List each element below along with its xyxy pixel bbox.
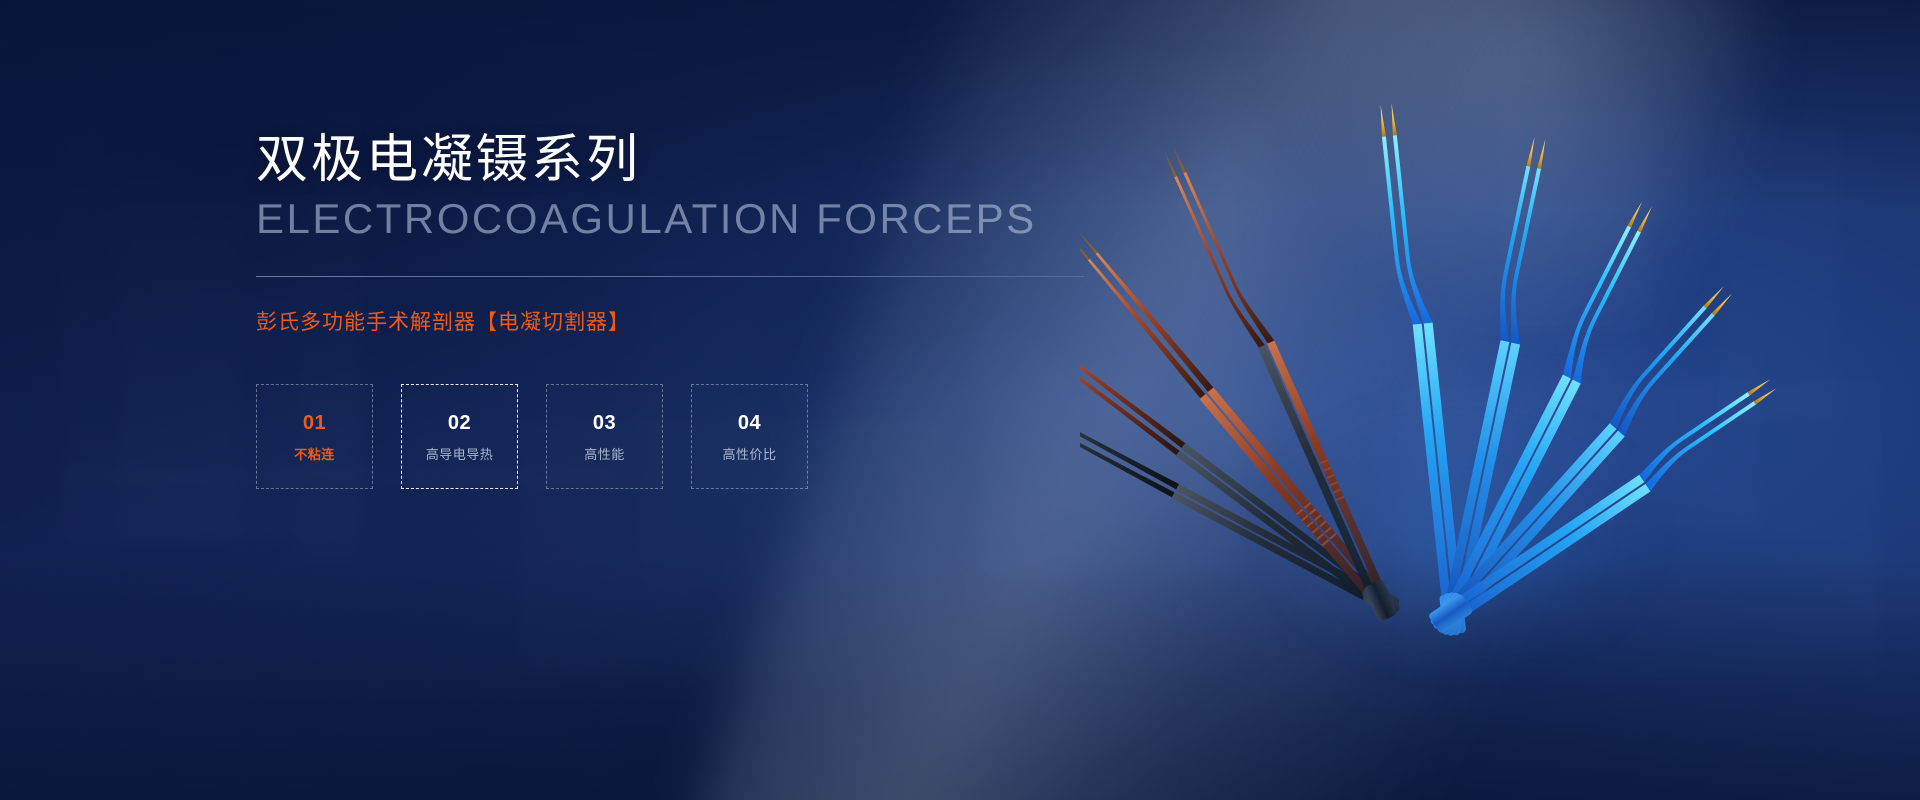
product-glow — [1200, 370, 1720, 700]
title-divider — [256, 276, 1084, 277]
product-name-label: 彭氏多功能手术解剖器【电凝切割器】 — [256, 306, 1096, 336]
product-image — [1080, 40, 1840, 700]
feature-label: 高性价比 — [722, 448, 776, 461]
hero-content: 双极电凝镊系列 ELECTROCOAGULATION FORCEPS 彭氏多功能… — [256, 132, 1096, 489]
feature-card-02[interactable]: 02 高导电导热 — [401, 384, 518, 489]
feature-number: 01 — [303, 413, 326, 433]
feature-label: 高性能 — [584, 448, 625, 461]
page-subtitle-english: ELECTROCOAGULATION FORCEPS — [256, 196, 1096, 242]
feature-label: 高导电导热 — [426, 448, 494, 461]
feature-number: 03 — [593, 413, 616, 433]
feature-card-03[interactable]: 03 高性能 — [546, 384, 663, 489]
product-hero-banner: 双极电凝镊系列 ELECTROCOAGULATION FORCEPS 彭氏多功能… — [0, 0, 1920, 800]
feature-number: 04 — [738, 413, 761, 433]
feature-list: 01 不粘连 02 高导电导热 03 高性能 04 高性价比 — [256, 384, 1096, 489]
feature-card-04[interactable]: 04 高性价比 — [691, 384, 808, 489]
page-title: 双极电凝镊系列 — [256, 132, 1096, 188]
feature-label: 不粘连 — [294, 448, 335, 461]
feature-card-01[interactable]: 01 不粘连 — [256, 384, 373, 489]
feature-number: 02 — [448, 413, 471, 433]
